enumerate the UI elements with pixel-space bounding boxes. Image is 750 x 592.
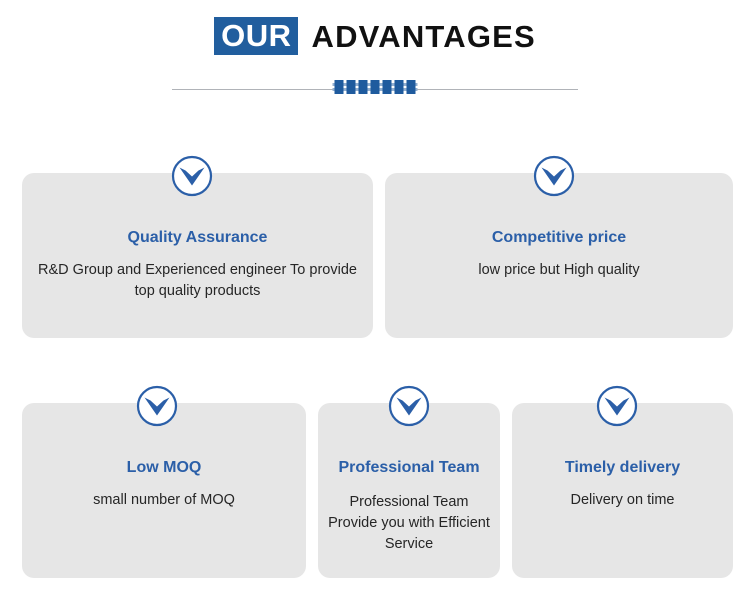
advantage-card-title: Competitive price (399, 228, 719, 248)
advantage-card-description: low price but High quality (399, 260, 719, 281)
advantage-card-title: Professional Team (328, 458, 490, 478)
divider-square (407, 80, 416, 94)
divider-square (347, 80, 356, 94)
chevron-down-circle-icon (171, 155, 213, 197)
divider-square (395, 80, 404, 94)
section-divider (172, 80, 578, 100)
divider-ornament (333, 80, 418, 94)
chevron-down-circle-icon (533, 155, 575, 197)
advantage-card-description: Delivery on time (526, 490, 719, 511)
chevron-down-circle-icon (136, 385, 178, 427)
advantage-card-price: Competitive price low price but High qua… (385, 173, 733, 338)
divider-square (383, 80, 392, 94)
page-title-rest: ADVANTAGES (298, 21, 535, 52)
page-header: OUR ADVANTAGES (0, 0, 750, 72)
advantage-card-title: Low MOQ (36, 458, 292, 478)
advantage-card-body: Professional Team Professional Team Prov… (318, 458, 500, 555)
advantage-card-title: Timely delivery (526, 458, 719, 478)
page-title: OUR ADVANTAGES (214, 17, 536, 55)
divider-square (359, 80, 368, 94)
advantage-card-title: Quality Assurance (36, 228, 359, 248)
advantage-card-description: small number of MOQ (36, 490, 292, 511)
divider-square (371, 80, 380, 94)
advantage-card-body: Timely delivery Delivery on time (512, 458, 733, 511)
chevron-down-circle-icon (596, 385, 638, 427)
page-title-highlight: OUR (214, 17, 298, 55)
advantage-card-delivery: Timely delivery Delivery on time (512, 403, 733, 578)
advantage-card-team: Professional Team Professional Team Prov… (318, 403, 500, 578)
advantage-card-moq: Low MOQ small number of MOQ (22, 403, 306, 578)
divider-square (335, 80, 344, 94)
advantage-card-description: R&D Group and Experienced engineer To pr… (36, 260, 359, 302)
advantage-card-description: Professional Team Provide you with Effic… (328, 492, 490, 555)
advantage-card-body: Competitive price low price but High qua… (385, 228, 733, 281)
chevron-down-circle-icon (388, 385, 430, 427)
advantage-card-body: Quality Assurance R&D Group and Experien… (22, 228, 373, 302)
advantage-card-body: Low MOQ small number of MOQ (22, 458, 306, 511)
advantage-card-quality: Quality Assurance R&D Group and Experien… (22, 173, 373, 338)
